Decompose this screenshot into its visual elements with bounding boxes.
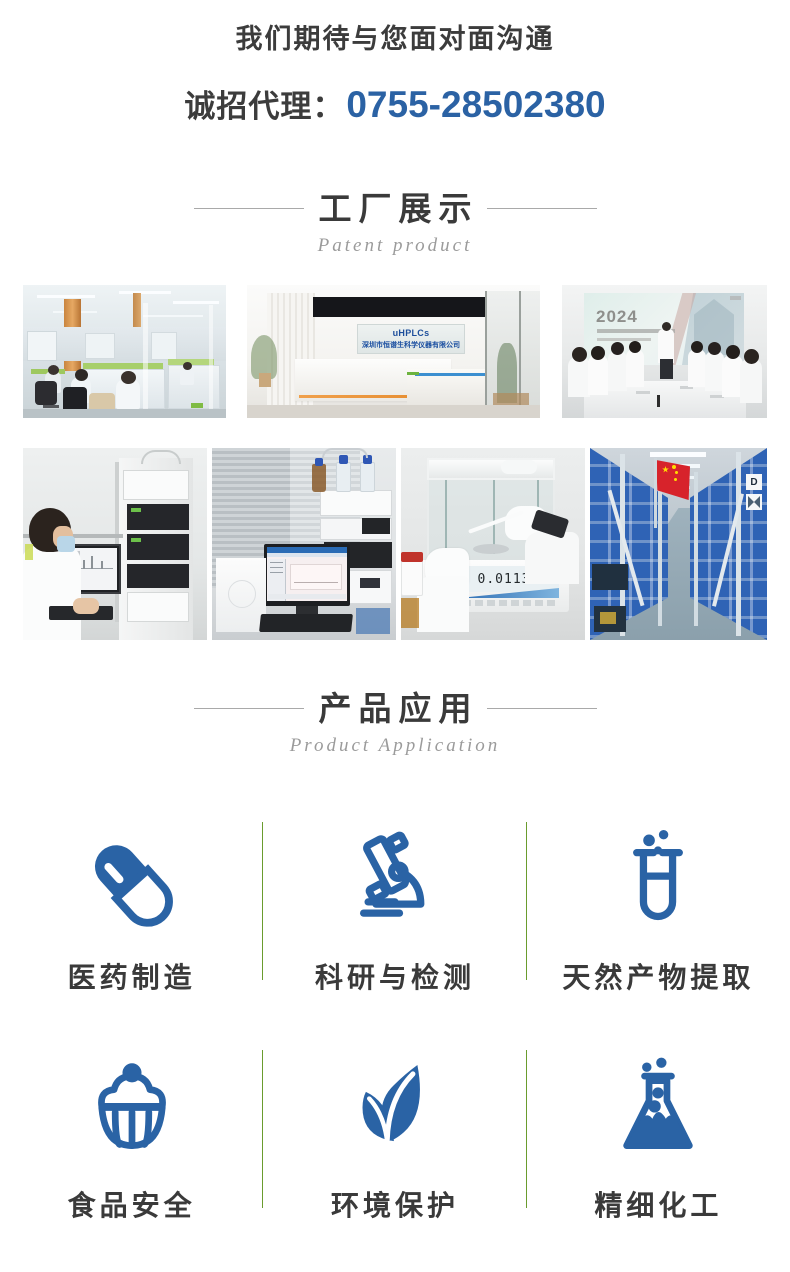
factory-photo-grid: uHPLCs 深圳市恒谱生科学仪器有限公司 xyxy=(0,0,790,660)
cupcake-icon xyxy=(76,1056,188,1168)
application-label-environment: 环境保护 xyxy=(331,1184,459,1224)
photo-warehouse: D xyxy=(590,448,767,640)
photo-hplc-operator xyxy=(23,448,207,640)
application-item-fine-chemicals[interactable]: 精细化工 xyxy=(527,1038,790,1224)
section-title-application-en: Product Application xyxy=(0,735,790,757)
application-icons: 医药制造 科研与检测 xyxy=(0,810,790,1224)
flask-icon xyxy=(602,1056,714,1168)
application-item-research[interactable]: 科研与检测 xyxy=(263,810,526,996)
photo-analytical-balance: 0.0113 xyxy=(401,448,585,640)
test-tube-icon xyxy=(602,828,714,940)
photo-lab-workstation xyxy=(212,448,396,640)
application-label-pharma: 医药制造 xyxy=(68,956,196,996)
page-root: 我们期待与您面对面沟通 诚招代理： 0755-28502380 工厂展示 Pat… xyxy=(0,0,790,1272)
slide-year: 2024 xyxy=(596,307,638,327)
photo-open-office xyxy=(23,285,226,418)
reception-sign-logo: uHPLCs xyxy=(379,327,443,338)
section-title-application-cn: 产品应用 xyxy=(304,690,487,728)
application-item-natural-extract[interactable]: 天然产物提取 xyxy=(527,810,790,996)
photo-reception: uHPLCs 深圳市恒谱生科学仪器有限公司 xyxy=(247,285,540,418)
reception-sign-text: 深圳市恒谱生科学仪器有限公司 xyxy=(361,339,461,351)
application-label-fine-chemicals: 精细化工 xyxy=(594,1184,722,1224)
application-item-pharma[interactable]: 医药制造 xyxy=(0,810,263,996)
section-title-application: 产品应用 Product Application xyxy=(0,690,790,757)
title-rule-left-2 xyxy=(194,708,304,709)
application-label-food-safety: 食品安全 xyxy=(68,1184,196,1224)
section-title-application-row: 产品应用 xyxy=(0,690,790,728)
leaf-icon xyxy=(339,1056,451,1168)
application-item-environment[interactable]: 环境保护 xyxy=(263,1038,526,1224)
title-rule-right-2 xyxy=(487,708,597,709)
application-row-1: 医药制造 科研与检测 xyxy=(0,810,790,996)
application-label-natural-extract: 天然产物提取 xyxy=(562,956,754,996)
capsule-icon xyxy=(76,828,188,940)
microscope-icon xyxy=(339,828,451,940)
application-label-research: 科研与检测 xyxy=(315,956,475,996)
application-item-food-safety[interactable]: 食品安全 xyxy=(0,1038,263,1224)
photo-meeting-room: 2024 xyxy=(562,285,767,418)
application-row-2: 食品安全 环境保护 xyxy=(0,1038,790,1224)
